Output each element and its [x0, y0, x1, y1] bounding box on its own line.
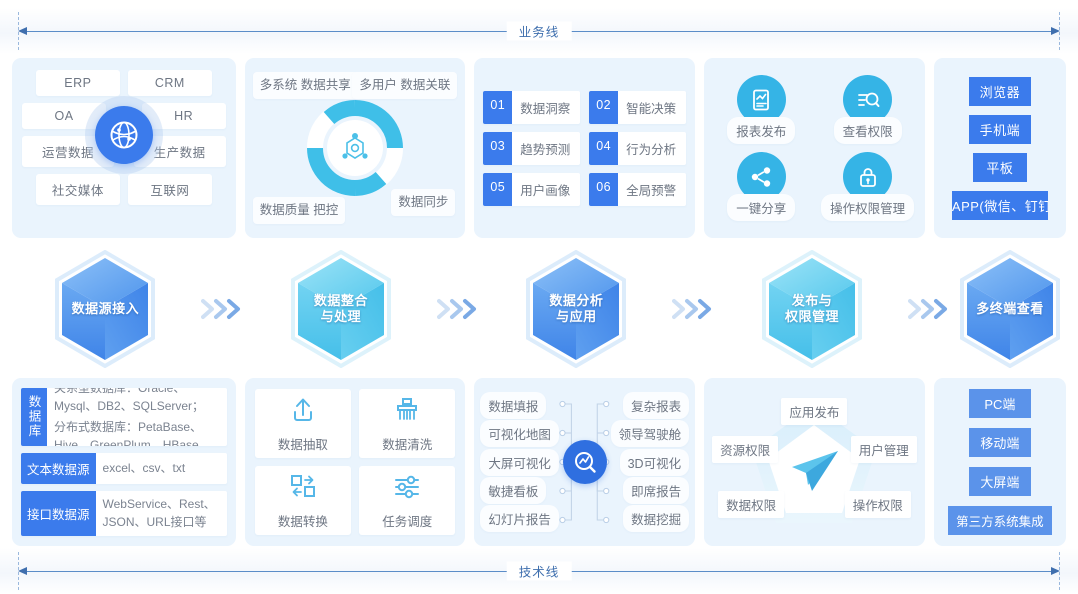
integration-label-data-quality: 数据质量 把控 — [253, 197, 346, 224]
terminal-app[interactable]: APP(微信、钉钉) — [952, 191, 1048, 220]
analysis-number: 02 — [589, 91, 618, 124]
sliders-settings-icon — [392, 471, 422, 506]
publish-item-label: 报表发布 — [727, 117, 795, 144]
db-value-line: excel、csv、txt — [103, 460, 186, 477]
integration-label-data-sync: 数据同步 — [391, 189, 455, 216]
business-line-label: 业务线 — [507, 22, 572, 41]
stage-text-line: 与应用 — [524, 309, 628, 325]
axis-arrow-left-icon — [18, 567, 27, 575]
stage-3-text: 数据分析 与应用 — [524, 293, 628, 326]
flow-arrow-1 — [199, 298, 248, 320]
integration-label-line: 多用户 — [359, 78, 397, 92]
terminal-type-mobile[interactable]: 移动端 — [969, 428, 1031, 457]
stage-5-text: 多终端查看 — [958, 301, 1062, 317]
bottom-row: 数据库 关系型数据库：Oracle、Mysql、DB2、SQLServer； 分… — [0, 378, 1078, 546]
source-row: 社交媒体 互联网 — [22, 174, 226, 205]
application-item-3d-visual[interactable]: 3D可视化 — [620, 449, 689, 476]
terminal-tablet[interactable]: 平板 — [973, 153, 1027, 182]
processing-tile-clean[interactable]: 数据清洗 — [359, 389, 455, 458]
db-key-label: 文本数据源 — [21, 453, 96, 484]
db-value-group: excel、csv、txt — [96, 453, 193, 484]
chevron-right-triple-icon — [672, 298, 716, 320]
integration-label-line: 数据同步 — [398, 195, 448, 209]
processing-tile-label: 任务调度 — [382, 511, 432, 530]
terminal-app-label: APP(微信、钉钉) — [952, 196, 1048, 215]
application-item-agile-board[interactable]: 敏捷看板 — [480, 477, 546, 504]
panel-client-terminals: 浏览器 手机端 平板 APP(微信、钉钉) — [934, 58, 1066, 238]
db-value-line: WebService、Rest、JSON、URL接口等 — [103, 496, 220, 531]
flow-arrow-3 — [670, 298, 719, 320]
db-key-label: 数据库 — [21, 388, 47, 446]
source-chip-crm[interactable]: CRM — [128, 70, 212, 96]
analysis-label: 数据洞察 — [512, 91, 580, 124]
panel-data-sources: ERP CRM OA HR 运营数据 生产数据 社交媒体 互联网 — [12, 58, 236, 238]
stage-1[interactable]: 数据源接入 — [12, 250, 199, 368]
flow-arrow-4 — [905, 298, 954, 320]
permission-label-user-management[interactable]: 用户管理 — [851, 436, 917, 463]
analysis-number: 04 — [589, 132, 618, 165]
publish-item-label: 一键分享 — [727, 194, 795, 221]
application-item-slide-report[interactable]: 幻灯片报告 — [480, 505, 559, 532]
terminal-type-pc[interactable]: PC端 — [969, 389, 1031, 418]
panel-data-processing: 数据抽取 数据清洗 — [245, 378, 466, 546]
stage-3[interactable]: 数据分析 与应用 — [483, 250, 670, 368]
publish-item-view-permission[interactable]: 查看权限 — [816, 75, 918, 144]
panel-publish-permissions: 报表发布 查看权限 — [704, 58, 925, 238]
db-key-label: 接口数据源 — [21, 491, 96, 536]
stage-text-line: 发布与 — [760, 293, 864, 309]
panel-applications: 数据填报 可视化地图 大屏可视化 敏捷看板 幻灯片报告 复杂报表 领导驾驶舱 3… — [474, 378, 695, 546]
application-item-map[interactable]: 可视化地图 — [480, 420, 559, 447]
permission-label-app-publish[interactable]: 应用发布 — [781, 398, 847, 425]
top-row: ERP CRM OA HR 运营数据 生产数据 社交媒体 互联网 — [0, 58, 1078, 238]
application-item-complex-report[interactable]: 复杂报表 — [623, 392, 689, 419]
application-item-exec-dashboard[interactable]: 领导驾驶舱 — [611, 420, 690, 447]
axis-arrow-right-icon — [1051, 27, 1060, 35]
db-value-line: 分布式数据库：PetaBase、Hive、GreenPlum、HBase — [54, 419, 220, 446]
transform-swap-icon — [288, 471, 318, 506]
publish-item-label: 查看权限 — [834, 117, 902, 144]
publish-item-share[interactable]: 一键分享 — [710, 152, 812, 221]
analysis-item-06[interactable]: 06 全局预警 — [589, 173, 686, 206]
analytics-search-icon — [563, 440, 607, 484]
upload-box-icon — [288, 394, 318, 429]
application-item-adhoc-report[interactable]: 即席报告 — [623, 477, 689, 504]
stage-text-line: 与处理 — [289, 309, 393, 325]
publish-item-operation-permission[interactable]: 操作权限管理 — [816, 152, 918, 221]
terminal-type-third-party[interactable]: 第三方系统集成 — [948, 506, 1052, 535]
stage-text-line: 多终端查看 — [958, 301, 1062, 317]
chevron-right-triple-icon — [908, 298, 952, 320]
application-list-left: 数据填报 可视化地图 大屏可视化 敏捷看板 幻灯片报告 — [480, 392, 564, 532]
integration-label-line: 数据质量 — [260, 203, 310, 217]
processing-tile-extract[interactable]: 数据抽取 — [255, 389, 351, 458]
db-row-database[interactable]: 数据库 关系型数据库：Oracle、Mysql、DB2、SQLServer； 分… — [21, 388, 227, 446]
analysis-item-04[interactable]: 04 行为分析 — [589, 132, 686, 165]
processing-tile-label: 数据转换 — [278, 511, 328, 530]
globe-network-icon-halo — [85, 96, 163, 174]
analysis-label: 智能决策 — [618, 91, 686, 124]
processing-tile-label: 数据抽取 — [278, 434, 328, 453]
integration-label-line: 数据共享 — [301, 78, 351, 92]
source-chip-erp[interactable]: ERP — [36, 70, 120, 96]
source-chip-social-media[interactable]: 社交媒体 — [36, 174, 120, 205]
analysis-number: 03 — [483, 132, 512, 165]
panel-permission-management: 应用发布 资源权限 用户管理 数据权限 操作权限 — [704, 378, 925, 546]
integration-label-multi-user: 多用户 数据关联 — [352, 72, 457, 99]
processing-tile-label: 数据清洗 — [382, 434, 432, 453]
source-chip-internet[interactable]: 互联网 — [128, 174, 212, 205]
integration-label-line: 把控 — [313, 203, 338, 217]
application-list-right: 复杂报表 领导驾驶舱 3D可视化 即席报告 数据挖掘 — [605, 392, 689, 532]
panel-data-analysis: 01 数据洞察 02 智能决策 03 趋势预测 04 行为分析 — [474, 58, 695, 238]
globe-network-icon — [95, 106, 153, 164]
db-value-group: 关系型数据库：Oracle、Mysql、DB2、SQLServer； 分布式数据… — [47, 388, 227, 446]
flow-arrow-2 — [434, 298, 483, 320]
stage-text-line: 数据分析 — [524, 293, 628, 309]
terminal-type-bigscreen[interactable]: 大屏端 — [969, 467, 1031, 496]
application-item-data-entry[interactable]: 数据填报 — [480, 392, 546, 419]
stage-text-line: 数据源接入 — [53, 301, 157, 317]
integration-label-line: 数据关联 — [400, 78, 450, 92]
application-item-bigscreen[interactable]: 大屏可视化 — [480, 449, 559, 476]
stage-flow-row: 数据源接入 — [0, 244, 1078, 374]
integration-label-multi-system: 多系统 数据共享 — [253, 72, 358, 99]
permission-label-operation[interactable]: 操作权限 — [845, 491, 911, 518]
stage-text-line: 权限管理 — [760, 309, 864, 325]
technology-line-label: 技术线 — [507, 562, 572, 581]
application-item-data-mining[interactable]: 数据挖掘 — [623, 505, 689, 532]
stage-4-text: 发布与 权限管理 — [760, 293, 864, 326]
architecture-diagram: 业务线 ERP CRM OA HR 运营数据 生产数据 — [0, 0, 1078, 588]
terminal-mobile[interactable]: 手机端 — [969, 115, 1031, 144]
terminal-browser[interactable]: 浏览器 — [969, 77, 1031, 106]
publish-item-report[interactable]: 报表发布 — [710, 75, 812, 144]
integration-label-line: 多系统 — [260, 78, 298, 92]
analysis-item-05[interactable]: 05 用户画像 — [483, 173, 580, 206]
analysis-number: 06 — [589, 173, 618, 206]
analysis-label: 趋势预测 — [512, 132, 580, 165]
db-row-text-source[interactable]: 文本数据源 excel、csv、txt — [21, 453, 227, 484]
stage-text-line: 数据整合 — [289, 293, 393, 309]
integration-donut-chart — [301, 94, 409, 202]
analysis-label: 行为分析 — [618, 132, 686, 165]
chevron-right-triple-icon — [437, 298, 481, 320]
panel-data-integration: 多系统 数据共享 多用户 数据关联 数据质量 把控 数据同步 — [245, 58, 466, 238]
stage-2[interactable]: 数据整合 与处理 — [248, 250, 435, 368]
db-value-group: WebService、Rest、JSON、URL接口等 — [96, 491, 227, 536]
technology-line-axis: 技术线 — [0, 548, 1078, 594]
processing-tile-transform[interactable]: 数据转换 — [255, 466, 351, 535]
analysis-label: 全局预警 — [618, 173, 686, 206]
permission-label-resource[interactable]: 资源权限 — [712, 436, 778, 463]
panel-database-sources: 数据库 关系型数据库：Oracle、Mysql、DB2、SQLServer； 分… — [12, 378, 236, 546]
analysis-label: 用户画像 — [512, 173, 580, 206]
analysis-item-02[interactable]: 02 智能决策 — [589, 91, 686, 124]
permission-label-data[interactable]: 数据权限 — [718, 491, 784, 518]
brush-clean-icon — [392, 394, 422, 429]
analysis-item-01[interactable]: 01 数据洞察 — [483, 91, 580, 124]
stage-2-text: 数据整合 与处理 — [289, 293, 393, 326]
axis-arrow-left-icon — [18, 27, 27, 35]
stage-1-text: 数据源接入 — [53, 301, 157, 317]
processing-tile-schedule[interactable]: 任务调度 — [359, 466, 455, 535]
db-value-line: 关系型数据库：Oracle、Mysql、DB2、SQLServer； — [54, 388, 220, 415]
publish-item-label: 操作权限管理 — [821, 194, 914, 221]
business-line-axis: 业务线 — [0, 8, 1078, 54]
stage-5[interactable]: 多终端查看 — [954, 250, 1066, 368]
analysis-number: 01 — [483, 91, 512, 124]
stage-4[interactable]: 发布与 权限管理 — [719, 250, 906, 368]
axis-arrow-right-icon — [1051, 567, 1060, 575]
panel-terminal-types: PC端 移动端 大屏端 第三方系统集成 — [934, 378, 1066, 546]
source-row: ERP CRM — [22, 70, 226, 96]
chevron-right-triple-icon — [201, 298, 245, 320]
analysis-item-03[interactable]: 03 趋势预测 — [483, 132, 580, 165]
db-row-api-source[interactable]: 接口数据源 WebService、Rest、JSON、URL接口等 — [21, 491, 227, 536]
analysis-number: 05 — [483, 173, 512, 206]
analysis-item-grid: 01 数据洞察 02 智能决策 03 趋势预测 04 行为分析 — [483, 91, 686, 206]
